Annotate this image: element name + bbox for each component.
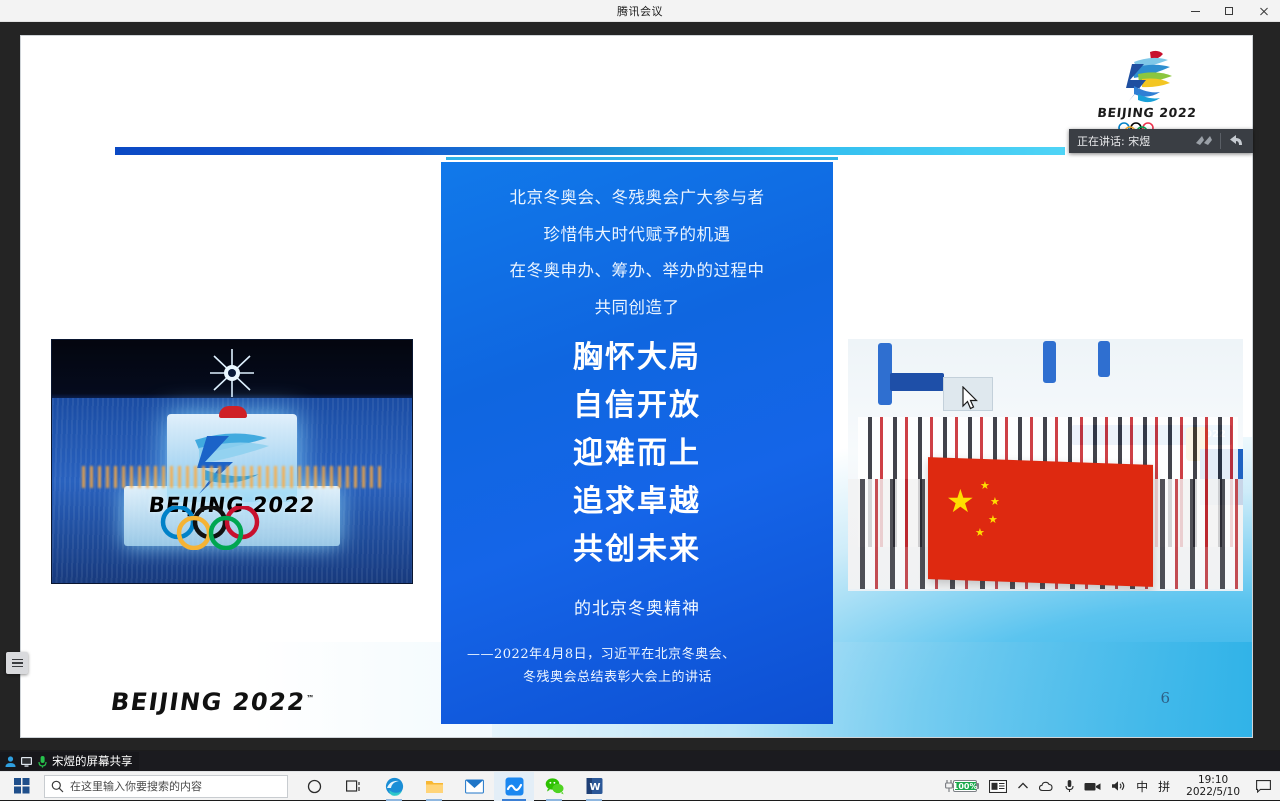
windows-taskbar: 在这里输入你要搜索的内容: [0, 771, 1280, 800]
photo-right-sign-board: [890, 373, 944, 391]
panel-intro-line-2: 珍惜伟大时代赋予的机遇: [441, 217, 833, 254]
taskbar-item-wechat[interactable]: [534, 772, 574, 801]
panel-spirit-line-3: 迎难而上: [441, 430, 833, 478]
china-flag: [928, 457, 1153, 587]
taskbar-item-edge[interactable]: [374, 772, 414, 801]
window-title: 腾讯会议: [617, 3, 663, 19]
emblem-wordmark: BEIJING 2022: [1093, 105, 1201, 120]
floating-meeting-toolbar[interactable]: 正在讲话: 宋煜: [1069, 129, 1253, 153]
taskbar-item-tencent-meeting[interactable]: [494, 772, 534, 801]
task-view-icon: [346, 779, 363, 794]
taskbar-item-word[interactable]: W: [574, 772, 614, 801]
search-input[interactable]: 在这里输入你要搜索的内容: [44, 775, 288, 798]
svg-text:W: W: [589, 782, 600, 793]
slide-page-number: 6: [1160, 689, 1170, 707]
search-icon: [51, 780, 64, 793]
mail-icon: [465, 779, 484, 794]
ime-mode-label: 中: [1136, 778, 1148, 795]
flag-star-small-3: ★: [988, 513, 998, 526]
ime-pinyin-label: 拼: [1158, 778, 1170, 795]
news-weather-icon[interactable]: [984, 772, 1012, 801]
slide-beijing-wordmark-text: BEIJING 2022: [109, 688, 307, 716]
slide-beijing-wordmark: BEIJING 2022™: [109, 688, 317, 716]
wechat-icon: [545, 777, 564, 795]
windows-start-icon[interactable]: [0, 772, 44, 801]
photo-left-olympic-rings-icon: [152, 506, 312, 550]
panel-intro-block: 北京冬奥会、冬残奥会广大参与者 珍惜伟大时代赋予的机遇 在冬奥申办、筹办、举办的…: [441, 162, 833, 326]
panel-spirit-line-4: 追求卓越: [441, 478, 833, 526]
photo-left-red-accent: [219, 406, 247, 418]
microphone-icon: [34, 753, 50, 769]
tencent-meeting-icon: [505, 777, 524, 796]
panel-source-line-1: ——2022年4月8日，习近平在北京冬奥会、: [453, 643, 821, 666]
onedrive-icon[interactable]: [1034, 772, 1060, 801]
word-icon: W: [586, 777, 603, 795]
notification-icon[interactable]: [1251, 772, 1276, 801]
window-controls: [1178, 0, 1280, 22]
photo-left-torch-lights: [82, 466, 382, 488]
restore-button[interactable]: [1212, 0, 1246, 22]
cortana-icon: [307, 779, 322, 794]
panel-spirit-line-1: 胸怀大局: [441, 334, 833, 382]
panel-source-block: ——2022年4月8日，习近平在北京冬奥会、 冬残奥会总结表彰大会上的讲话: [441, 643, 833, 689]
active-speaker-label: 正在讲话: 宋煜: [1069, 133, 1188, 149]
ime-mode-indicator[interactable]: 中: [1131, 772, 1153, 801]
flag-star-large: ★: [946, 485, 975, 517]
minimize-button[interactable]: [1178, 0, 1212, 22]
panel-spirit-block: 胸怀大局 自信开放 迎难而上 追求卓越 共创未来: [441, 334, 833, 574]
slide-quote-panel: 北京冬奥会、冬残奥会广大参与者 珍惜伟大时代赋予的机遇 在冬奥申办、筹办、举办的…: [441, 162, 833, 724]
clock-area[interactable]: 19:10 2022/5/10: [1175, 772, 1251, 801]
photo-right-gate-post-3: [1098, 341, 1110, 377]
snowflake-icon: [204, 347, 260, 399]
battery-indicator[interactable]: 100%: [940, 772, 984, 801]
header-accent-rule: [446, 157, 838, 160]
panel-toggle-handle[interactable]: [6, 652, 28, 674]
photo-opening-ceremony: BEIJING 2022: [51, 339, 413, 584]
screen-share-pill[interactable]: 宋煜的屏幕共享: [0, 752, 139, 770]
beijing-2022-emblem: BEIJING 2022: [1094, 46, 1200, 141]
window-title-bar: 腾讯会议: [0, 0, 1280, 22]
file-explorer-icon: [425, 778, 444, 795]
trademark-mark: ™: [305, 694, 316, 703]
photo-team-china: 2022 ★ ★ ★ ★ ★: [848, 339, 1243, 591]
microphone-tray-icon[interactable]: [1060, 772, 1079, 801]
flag-star-small-1: ★: [980, 479, 990, 492]
restore-arrow-icon[interactable]: [1221, 129, 1253, 153]
battery-percent: 100%: [954, 781, 976, 791]
person-icon: [2, 753, 18, 769]
header-gradient-rule: [115, 147, 1065, 155]
ime-pinyin-indicator[interactable]: 拼: [1153, 772, 1175, 801]
panel-source-line-2: 冬残奥会总结表彰大会上的讲话: [453, 666, 821, 689]
camera-icon[interactable]: [1079, 772, 1106, 801]
taskbar-item-file-explorer[interactable]: [414, 772, 454, 801]
flag-star-small-2: ★: [990, 495, 1000, 508]
volume-icon[interactable]: [1106, 772, 1131, 801]
search-placeholder: 在这里输入你要搜索的内容: [70, 778, 202, 794]
show-hidden-icons-icon[interactable]: [1012, 772, 1034, 801]
taskbar-item-cortana[interactable]: [294, 772, 334, 801]
taskbar-items: W: [294, 772, 614, 801]
audio-wave-icon[interactable]: [1188, 129, 1220, 153]
mouse-cursor: [961, 386, 979, 412]
panel-intro-line-4: 共同创造了: [441, 290, 833, 327]
taskbar-item-mail[interactable]: [454, 772, 494, 801]
photo-right-gate-post-2: [1043, 341, 1056, 383]
system-tray: 100%: [940, 772, 1280, 801]
edge-icon: [385, 777, 404, 796]
panel-spirit-line-5: 共创未来: [441, 526, 833, 574]
menu-handle-icon: [12, 657, 23, 670]
winter-emblem-swirl-icon: [177, 426, 287, 500]
clock-time: 19:10: [1186, 774, 1240, 786]
panel-closing-line: 的北京冬奥精神: [441, 594, 833, 619]
close-button[interactable]: [1246, 0, 1280, 22]
screen-share-indicator: 宋煜的屏幕共享: [0, 751, 1280, 771]
screen-share-label: 宋煜的屏幕共享: [52, 753, 133, 769]
battery-shell: 100%: [953, 780, 977, 792]
panel-intro-line-3: 在冬奥申办、筹办、举办的过程中: [441, 253, 833, 290]
screen-share-icon: [18, 753, 34, 769]
flag-star-small-4: ★: [975, 526, 985, 539]
panel-spirit-line-2: 自信开放: [441, 382, 833, 430]
clock-date: 2022/5/10: [1186, 786, 1240, 798]
taskbar-item-task-view[interactable]: [334, 772, 374, 801]
panel-intro-line-1: 北京冬奥会、冬残奥会广大参与者: [441, 180, 833, 217]
